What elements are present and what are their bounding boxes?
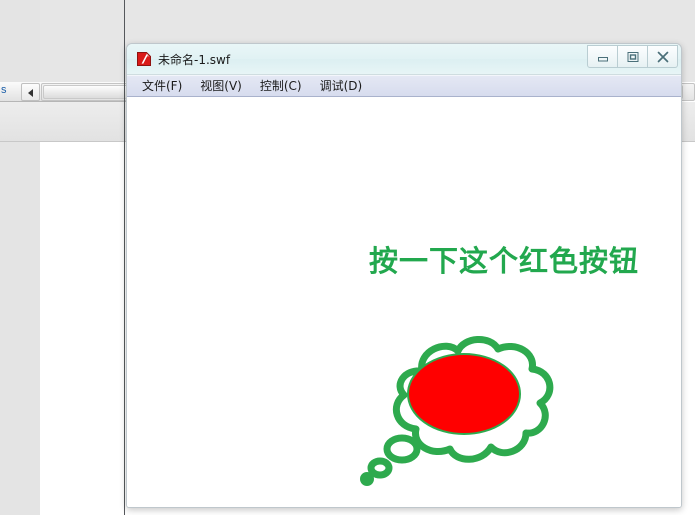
screen: s 未命名-1.swf: [0, 0, 695, 515]
window-controls: [587, 45, 678, 68]
stage-bottom-divider: [127, 507, 681, 508]
background-left-gutter: [0, 0, 40, 515]
menu-item-control[interactable]: 控制(C): [251, 75, 311, 97]
menu-item-view[interactable]: 视图(V): [191, 75, 251, 97]
background-tab-label: s: [1, 84, 15, 96]
scroll-left-arrow-icon[interactable]: [21, 83, 40, 101]
flash-stage[interactable]: 按一下这个红色按钮 jb51.net: [127, 97, 681, 508]
window-titlebar[interactable]: 未命名-1.swf: [127, 44, 681, 75]
stage-headline: 按一下这个红色按钮: [369, 238, 639, 280]
close-icon: [656, 51, 670, 63]
menu-item-debug[interactable]: 调试(D): [311, 75, 372, 97]
window-menubar: 文件(F) 视图(V) 控制(C) 调试(D): [127, 75, 681, 97]
menu-item-file[interactable]: 文件(F): [133, 75, 191, 97]
flash-document-icon: [136, 51, 152, 67]
minimize-button[interactable]: [587, 45, 618, 68]
window-title: 未命名-1.swf: [158, 51, 230, 68]
background-vertical-divider: [124, 0, 125, 515]
flash-player-window[interactable]: 未命名-1.swf: [126, 43, 682, 508]
thought-bubble-with-red-button[interactable]: [358, 329, 568, 494]
minimize-icon: [597, 52, 609, 62]
close-button[interactable]: [648, 45, 678, 68]
restore-icon: [626, 51, 639, 63]
maximize-button[interactable]: [618, 45, 648, 68]
